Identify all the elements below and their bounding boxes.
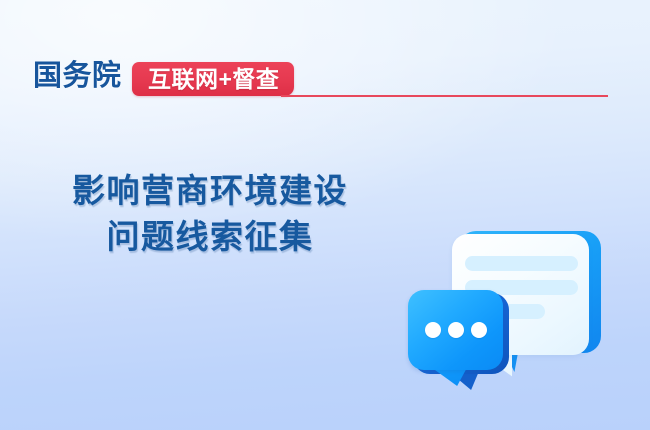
campaign-banner: 国务院 互联网+督查 影响营商环境建设 问题线索征集 — [0, 0, 650, 430]
message-line-bar — [465, 256, 578, 271]
speech-bubbles-illustration — [396, 212, 626, 397]
title-line-2: 问题线索征集 — [0, 214, 420, 260]
title-line-1: 影响营商环境建设 — [0, 168, 420, 214]
banner-header: 国务院 互联网+督查 — [33, 55, 618, 103]
header-divider-line — [281, 95, 608, 97]
typing-dot-icon — [425, 322, 441, 338]
government-label: 国务院 — [33, 57, 122, 95]
typing-dot-icon — [471, 322, 487, 338]
banner-title: 影响营商环境建设 问题线索征集 — [0, 168, 420, 260]
typing-dot-icon — [448, 322, 464, 338]
program-badge-label: 互联网+督查 — [148, 66, 279, 92]
program-badge: 互联网+督查 — [132, 62, 294, 96]
